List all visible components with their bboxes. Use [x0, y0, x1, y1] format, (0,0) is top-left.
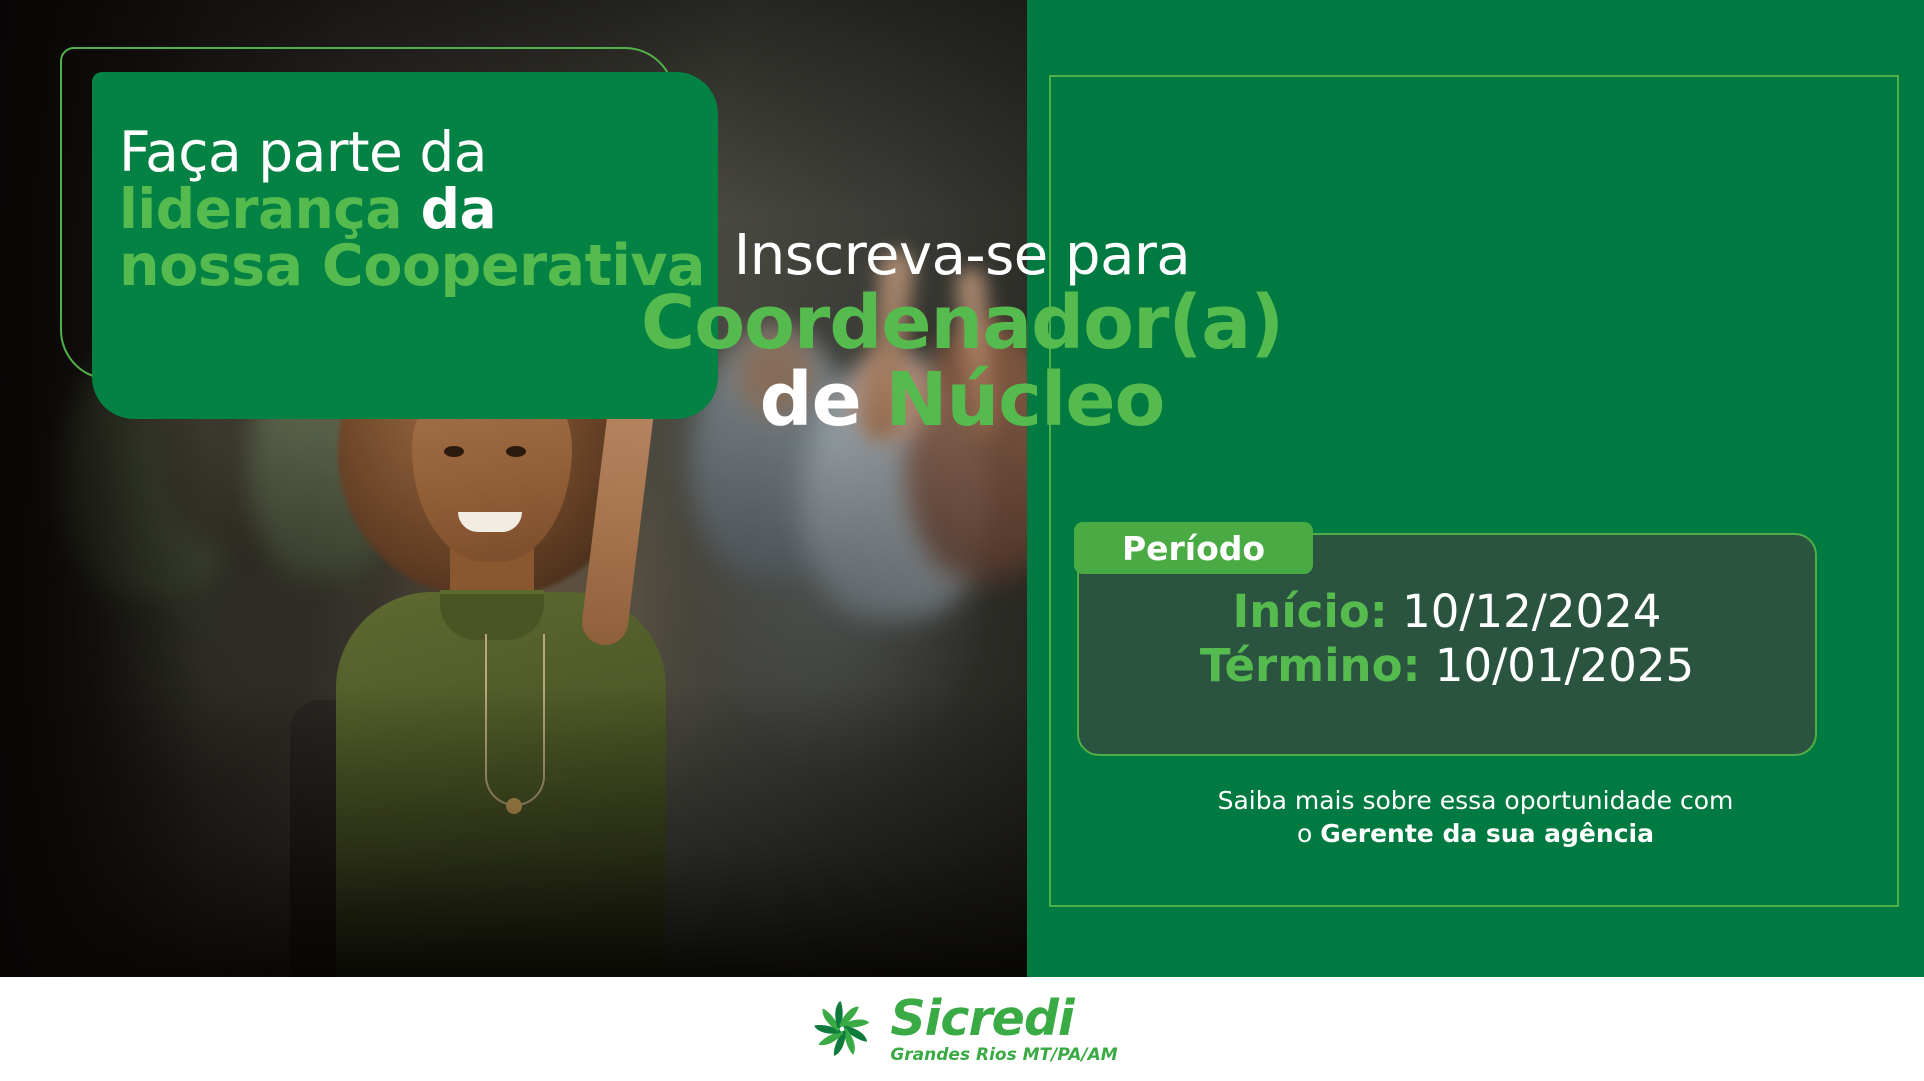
- panel-eyebrow: Inscreva-se para: [0, 228, 1924, 284]
- headline-line-1: Faça parte da: [119, 124, 718, 181]
- panel-heading: Inscreva-se para Coordenador(a) de Núcle…: [0, 228, 1924, 439]
- end-date-row: Término: 10/01/2025: [1077, 639, 1817, 693]
- panel-role-line-2: de Núcleo: [0, 363, 1924, 438]
- logo-coop-name: Grandes Rios MT/PA/AM: [890, 1047, 1117, 1064]
- sicredi-logo: Sicredi Grandes Rios MT/PA/AM: [806, 993, 1117, 1065]
- end-date-value: 10/01/2025: [1421, 639, 1695, 692]
- role-suffix: Núcleo: [886, 357, 1165, 443]
- panel-outline-frame: [1049, 75, 1899, 907]
- start-date-label: Início:: [1233, 585, 1388, 638]
- cta-line-2: o Gerente da sua agência: [1027, 818, 1924, 851]
- cta-line-1: Saiba mais sobre essa oportunidade com: [1027, 785, 1924, 818]
- end-date-label: Término:: [1200, 639, 1421, 692]
- logo-brand-name: Sicredi: [890, 994, 1117, 1043]
- period-dates: Início: 10/12/2024 Término: 10/01/2025: [1077, 585, 1817, 693]
- cta-text: Saiba mais sobre essa oportunidade com o…: [1027, 785, 1924, 850]
- cta-line-2-prefix: o: [1297, 819, 1320, 848]
- footer-bar: Sicredi Grandes Rios MT/PA/AM: [0, 977, 1924, 1081]
- period-badge: Período: [1074, 522, 1313, 574]
- sicredi-pinwheel-icon: [806, 993, 878, 1065]
- role-prefix: de: [760, 357, 886, 443]
- period-badge-label: Período: [1122, 529, 1265, 568]
- campaign-banner: Faça parte da liderança da nossa Coopera…: [0, 0, 1924, 1081]
- logo-wordmark: Sicredi Grandes Rios MT/PA/AM: [890, 994, 1117, 1064]
- start-date-row: Início: 10/12/2024: [1077, 585, 1817, 639]
- panel-role-line: Coordenador(a): [0, 286, 1924, 361]
- start-date-value: 10/12/2024: [1388, 585, 1662, 638]
- cta-line-2-bold: Gerente da sua agência: [1320, 819, 1654, 848]
